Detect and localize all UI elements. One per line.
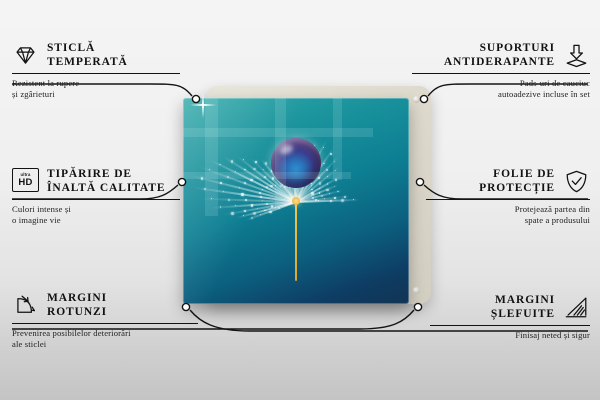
feature-subtitle: o imagine vie bbox=[12, 215, 180, 226]
feature-title: MARGINI ROTUNZI bbox=[47, 292, 107, 319]
feature-header: MARGINI ȘLEFUITE bbox=[430, 294, 590, 321]
feature-subtitle: Pads-uri de cauciuc bbox=[412, 78, 590, 89]
divider bbox=[412, 73, 590, 74]
sparkle-icon bbox=[190, 92, 216, 118]
feature-subtitle: Finisaj neted și sigur bbox=[430, 330, 590, 341]
glass-board bbox=[183, 98, 409, 304]
rubber-pad-icon bbox=[413, 287, 420, 294]
divider bbox=[12, 323, 198, 324]
feature-title: SUPORTURI ANTIDERAPANTE bbox=[444, 42, 555, 69]
shield-check-icon bbox=[563, 168, 590, 195]
infographic-canvas: STICLĂ TEMPERATĂ Rezistent la rupere și … bbox=[0, 0, 600, 400]
press-down-pad-icon bbox=[563, 42, 590, 69]
feature-subtitle: Culori intense și bbox=[12, 204, 180, 215]
feature-polished-edges: MARGINI ȘLEFUITE Finisaj neted și sigur bbox=[430, 294, 590, 341]
divider bbox=[12, 199, 180, 200]
product-image bbox=[183, 86, 431, 326]
feature-header: MARGINI ROTUNZI bbox=[12, 292, 198, 319]
feature-title: FOLIE DE PROTECȚIE bbox=[479, 168, 555, 195]
feature-anti-slip-supports: SUPORTURI ANTIDERAPANTE Pads-uri de cauc… bbox=[412, 42, 590, 100]
feature-tempered-glass: STICLĂ TEMPERATĂ Rezistent la rupere și … bbox=[12, 42, 180, 100]
feature-header: ultra HD TIPĂRIRE DE ÎNALTĂ CALITATE bbox=[12, 168, 180, 195]
feature-subtitle: spate a produsului bbox=[426, 215, 590, 226]
feature-protective-foil: FOLIE DE PROTECȚIE Protejează partea din… bbox=[426, 168, 590, 226]
feature-header: FOLIE DE PROTECȚIE bbox=[426, 168, 590, 195]
feature-header: STICLĂ TEMPERATĂ bbox=[12, 42, 180, 69]
feature-rounded-edges: MARGINI ROTUNZI Prevenirea posibilelor d… bbox=[12, 292, 198, 350]
divider bbox=[430, 325, 590, 326]
feature-subtitle: Rezistent la rupere bbox=[12, 78, 180, 89]
polished-edge-icon bbox=[563, 294, 590, 321]
feature-subtitle: Prevenirea posibilelor deteriorări bbox=[12, 328, 198, 339]
feature-subtitle: autoadezive incluse în set bbox=[412, 89, 590, 100]
feature-title: MARGINI ȘLEFUITE bbox=[491, 294, 555, 321]
feature-header: SUPORTURI ANTIDERAPANTE bbox=[412, 42, 590, 69]
ultra-hd-icon: ultra HD bbox=[12, 168, 39, 195]
feature-subtitle: Protejează partea din bbox=[426, 204, 590, 215]
feature-title: TIPĂRIRE DE ÎNALTĂ CALITATE bbox=[47, 168, 165, 195]
feature-title: STICLĂ TEMPERATĂ bbox=[47, 42, 128, 69]
diamond-icon bbox=[12, 42, 39, 69]
feature-subtitle: ale sticlei bbox=[12, 339, 198, 350]
divider bbox=[426, 199, 590, 200]
feature-subtitle: și zgârieturi bbox=[12, 89, 180, 100]
feature-high-quality-print: ultra HD TIPĂRIRE DE ÎNALTĂ CALITATE Cul… bbox=[12, 168, 180, 226]
rounded-corner-icon bbox=[12, 292, 39, 319]
hd-label: HD bbox=[18, 178, 32, 188]
divider bbox=[12, 73, 180, 74]
glass-sheen bbox=[183, 98, 409, 304]
